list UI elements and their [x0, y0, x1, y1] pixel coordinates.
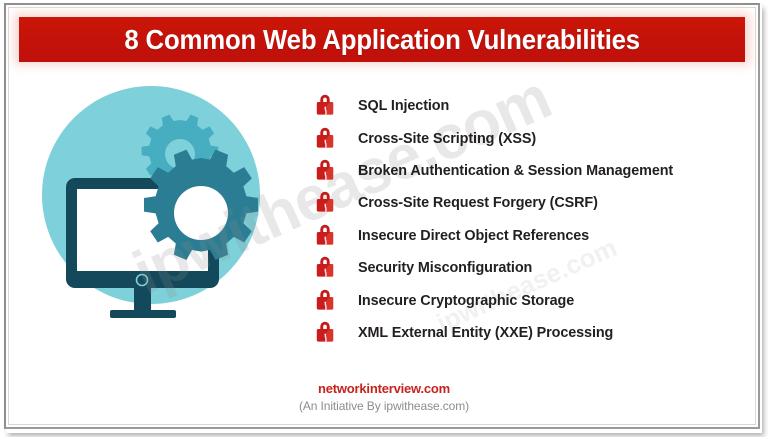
list-item: Insecure Direct Object References	[314, 220, 754, 252]
lock-icon	[314, 125, 336, 151]
footer-subtitle: (An Initiative By ipwithease.com)	[0, 399, 768, 413]
computer-gears-illustration	[42, 86, 280, 324]
list-item-label: Insecure Direct Object References	[358, 228, 589, 244]
list-item: Broken Authentication & Session Manageme…	[314, 155, 754, 187]
list-item: Cross-Site Request Forgery (CSRF)	[314, 187, 754, 219]
footer-brand: networkinterview.com	[0, 381, 768, 396]
infographic-canvas: 8 Common Web Application Vulnerabilities	[0, 0, 768, 437]
lock-icon	[314, 287, 336, 313]
list-item: XML External Entity (XXE) Processing	[314, 317, 754, 349]
lock-icon	[314, 222, 336, 248]
list-item-label: Cross-Site Scripting (XSS)	[358, 131, 536, 147]
illustration-svg	[42, 86, 280, 324]
list-item-label: Cross-Site Request Forgery (CSRF)	[358, 195, 598, 211]
title-banner: 8 Common Web Application Vulnerabilities	[19, 17, 745, 62]
list-item: SQL Injection	[314, 90, 754, 122]
list-item-label: SQL Injection	[358, 98, 449, 114]
list-item-label: Security Misconfiguration	[358, 260, 532, 276]
page-title: 8 Common Web Application Vulnerabilities	[124, 24, 640, 56]
lock-icon	[314, 157, 336, 183]
list-item: Cross-Site Scripting (XSS)	[314, 122, 754, 154]
list-item-label: Insecure Cryptographic Storage	[358, 293, 574, 309]
list-item-label: XML External Entity (XXE) Processing	[358, 325, 613, 341]
list-item-label: Broken Authentication & Session Manageme…	[358, 163, 673, 179]
list-item: Security Misconfiguration	[314, 252, 754, 284]
vulnerability-list: SQL Injection Cross-Site Scripting (XSS)	[314, 90, 754, 349]
lock-icon	[314, 189, 336, 215]
lock-icon	[314, 92, 336, 118]
list-item: Insecure Cryptographic Storage	[314, 284, 754, 316]
lock-icon	[314, 254, 336, 280]
footer: networkinterview.com (An Initiative By i…	[0, 381, 768, 413]
lock-icon	[314, 319, 336, 345]
